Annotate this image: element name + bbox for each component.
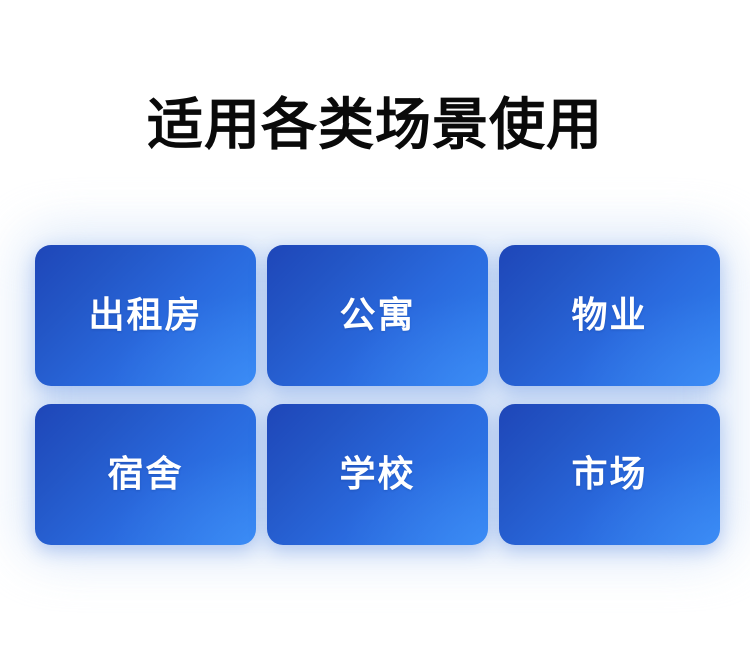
scenario-card-rental-housing[interactable]: 出租房 (35, 245, 256, 386)
scenario-card-apartment[interactable]: 公寓 (267, 245, 488, 386)
scenario-card-school[interactable]: 学校 (267, 404, 488, 545)
scenario-card-label: 公寓 (339, 298, 415, 334)
scenario-showcase-page: 适用各类场景使用 出租房 公寓 物业 宿舍 学校 市场 (0, 0, 750, 650)
page-title: 适用各类场景使用 (0, 92, 750, 160)
scenario-card-label: 学校 (339, 457, 415, 493)
scenario-card-label: 物业 (571, 298, 647, 334)
scenario-card-dormitory[interactable]: 宿舍 (35, 404, 256, 545)
scenario-card-market[interactable]: 市场 (499, 404, 720, 545)
scenario-card-grid: 出租房 公寓 物业 宿舍 学校 市场 (35, 245, 720, 545)
scenario-card-label: 出租房 (88, 298, 202, 334)
scenario-grid-container: 出租房 公寓 物业 宿舍 学校 市场 (35, 245, 720, 545)
scenario-card-label: 宿舍 (107, 457, 183, 493)
scenario-card-label: 市场 (571, 457, 647, 493)
scenario-card-property-management[interactable]: 物业 (499, 245, 720, 386)
